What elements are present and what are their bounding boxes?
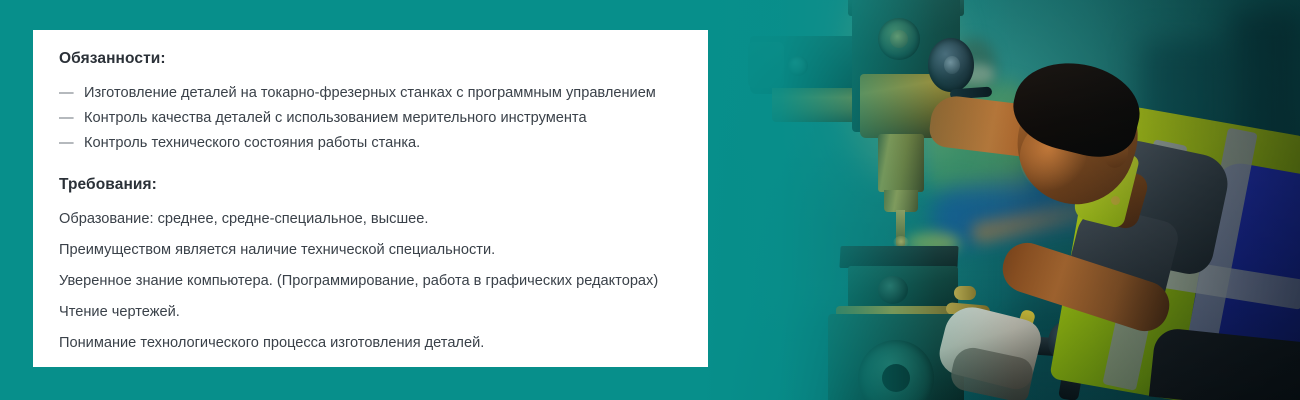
duty-item-text: Контроль технического состояния работы с… [84, 135, 420, 151]
em-dash-icon: — [59, 82, 74, 104]
requirement-item: Образование: среднее, средне-специальное… [59, 208, 682, 230]
em-dash-icon: — [59, 107, 74, 129]
requirements-heading: Требования: [59, 176, 682, 194]
em-dash-icon: — [59, 132, 74, 154]
requirements-list: Образование: среднее, средне-специальное… [59, 208, 682, 354]
duty-item: — Изготовление деталей на токарно-фрезер… [59, 82, 682, 104]
duty-item: — Контроль технического состояния работы… [59, 132, 682, 154]
duty-item-text: Контроль качества деталей с использовани… [84, 110, 587, 126]
vacancy-banner: Обязанности: — Изготовление деталей на т… [0, 0, 1300, 400]
requirement-item: Понимание технологического процесса изго… [59, 332, 682, 354]
requirement-item: Преимуществом является наличие техническ… [59, 239, 682, 261]
vacancy-text-card: Обязанности: — Изготовление деталей на т… [33, 30, 708, 367]
duty-item-text: Изготовление деталей на токарно-фрезерны… [84, 85, 656, 101]
requirement-item: Чтение чертежей. [59, 301, 682, 323]
requirement-item: Уверенное знание компьютера. (Программир… [59, 270, 682, 292]
duty-item: — Контроль качества деталей с использова… [59, 107, 682, 129]
duties-list: — Изготовление деталей на токарно-фрезер… [59, 82, 682, 154]
duties-heading: Обязанности: [59, 50, 682, 68]
